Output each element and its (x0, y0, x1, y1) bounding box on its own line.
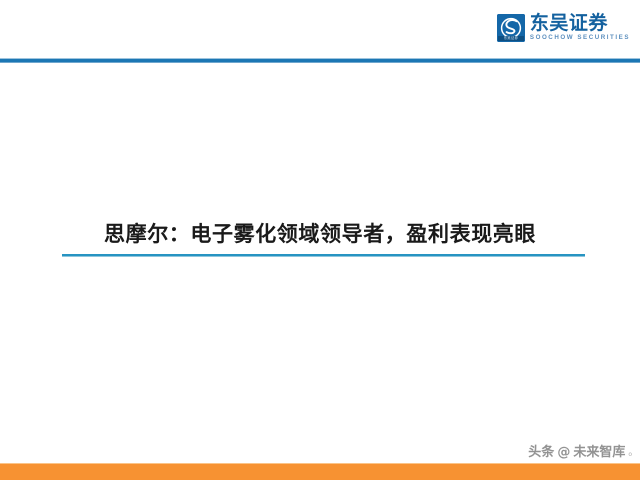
title-underline (62, 254, 585, 257)
footer-accent-bar-highlight (0, 463, 640, 464)
watermark: 头条 @ 未来智库 o (528, 441, 632, 460)
logo-wordmark: 东吴证券 SOOCHOW SECURITIES (530, 14, 630, 41)
presentation-slide: 东吴证券 东吴证券 SOOCHOW SECURITIES 思摩尔：电子雾化领域领… (0, 0, 640, 480)
watermark-at-symbol: @ (557, 445, 570, 460)
footer-accent-bar (0, 463, 640, 480)
watermark-account: 未来智库 (573, 441, 625, 460)
company-logo: 东吴证券 东吴证券 SOOCHOW SECURITIES (497, 14, 630, 42)
logo-name-cn: 东吴证券 (530, 14, 630, 33)
soochow-s-swirl-icon: 东吴证券 (497, 14, 525, 42)
watermark-trailing-mark: o (628, 451, 632, 458)
header-divider (0, 58, 640, 64)
title-underline-shadow (62, 256, 585, 257)
watermark-platform: 头条 (528, 441, 554, 460)
header-divider-bottom-edge (0, 62, 640, 63)
logo-mark-caption: 东吴证券 (498, 36, 524, 41)
logo-name-en: SOOCHOW SECURITIES (530, 35, 630, 41)
page-title: 思摩尔：电子雾化领域领导者，盈利表现亮眼 (0, 218, 640, 250)
slide-title-container: 思摩尔：电子雾化领域领导者，盈利表现亮眼 (0, 218, 640, 250)
